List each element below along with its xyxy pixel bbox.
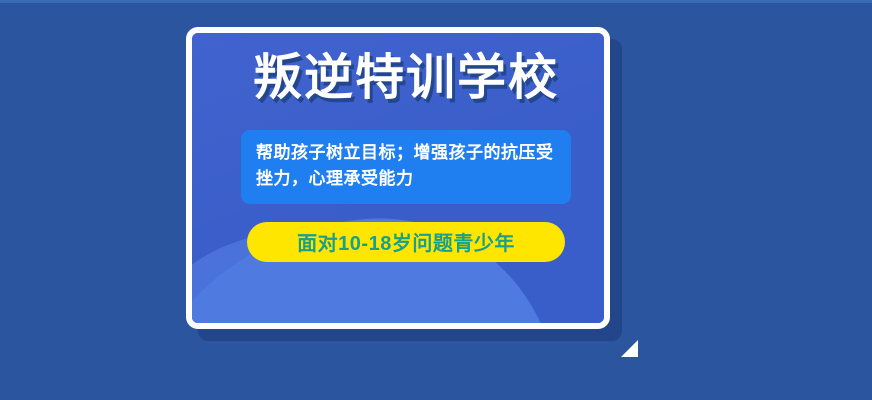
banner-card: 叛逆特训学校 帮助孩子树立目标；增强孩子的抗压受挫力，心理承受能力 面对10-1… — [186, 27, 626, 345]
card-content: 叛逆特训学校 帮助孩子树立目标；增强孩子的抗压受挫力，心理承受能力 面对10-1… — [186, 27, 626, 345]
age-range-badge-label: 面对10-18岁问题青少年 — [297, 227, 515, 256]
subtitle-panel: 帮助孩子树立目标；增强孩子的抗压受挫力，心理承受能力 — [241, 130, 571, 204]
age-range-badge: 面对10-18岁问题青少年 — [247, 222, 565, 262]
top-hairline-divider — [0, 0, 872, 3]
subtitle-text: 帮助孩子树立目标；增强孩子的抗压受挫力，心理承受能力 — [256, 140, 556, 193]
promo-banner: 叛逆特训学校 帮助孩子树立目标；增强孩子的抗压受挫力，心理承受能力 面对10-1… — [0, 0, 872, 400]
page-title: 叛逆特训学校 — [253, 53, 559, 105]
